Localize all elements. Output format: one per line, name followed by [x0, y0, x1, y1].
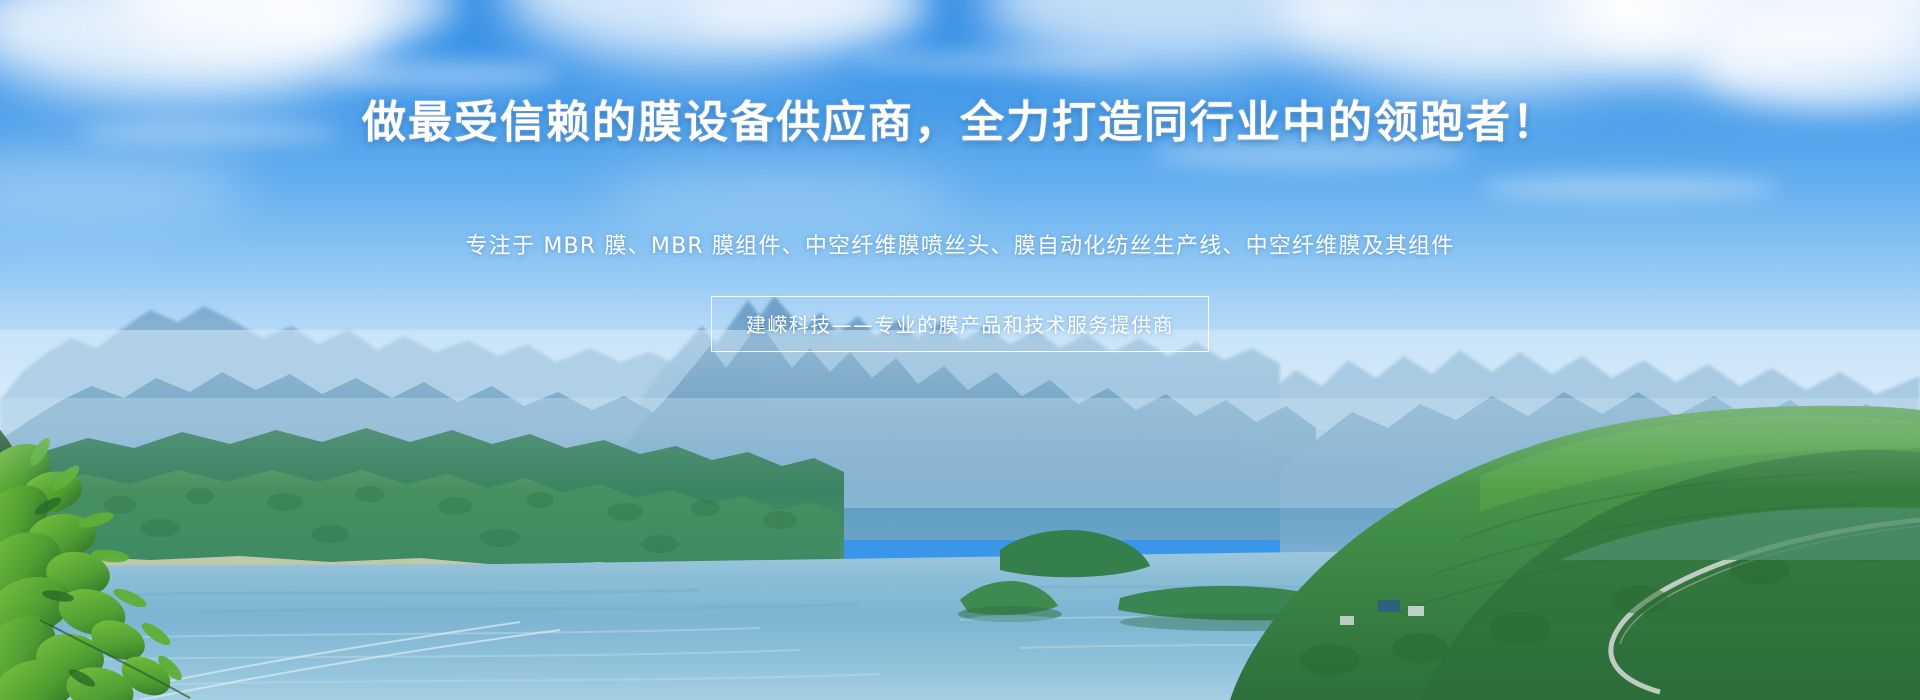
banner-tagline-wrap: 建嵘科技——专业的膜产品和技术服务提供商 — [0, 296, 1920, 352]
banner-tagline: 建嵘科技——专业的膜产品和技术服务提供商 — [711, 296, 1209, 352]
hero-banner: 做最受信赖的膜设备供应商，全力打造同行业中的领跑者！ 专注于 MBR 膜、MBR… — [0, 0, 1920, 700]
banner-headline: 做最受信赖的膜设备供应商，全力打造同行业中的领跑者！ — [0, 98, 1920, 149]
banner-subline: 专注于 MBR 膜、MBR 膜组件、中空纤维膜喷丝头、膜自动化纺丝生产线、中空纤… — [0, 228, 1920, 260]
